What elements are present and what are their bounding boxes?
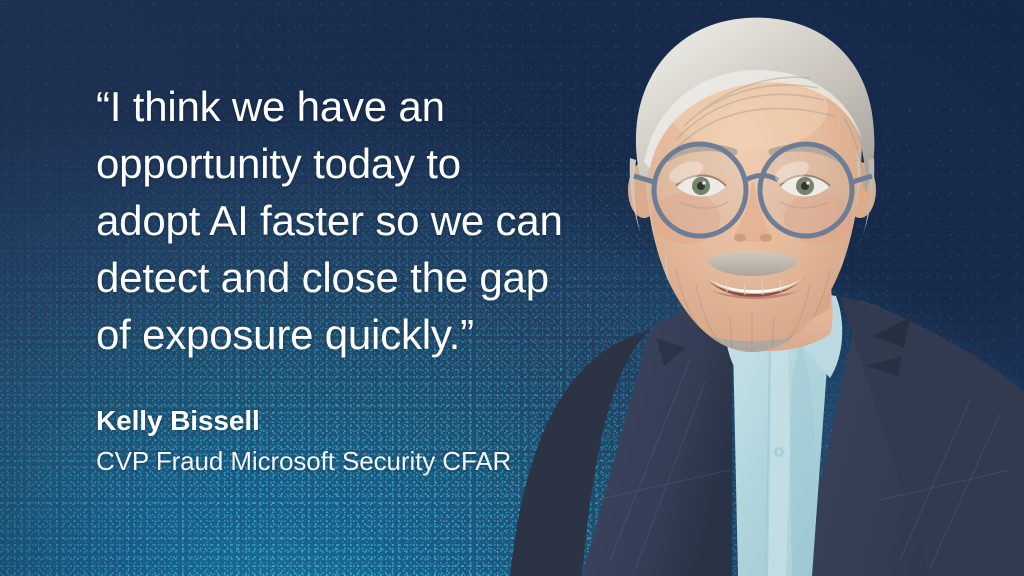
portrait-photo	[500, 0, 1024, 576]
lens-left	[654, 144, 746, 236]
speaker-role: CVP Fraud Microsoft Security CFAR	[96, 445, 511, 477]
speaker-name: Kelly Bissell	[96, 404, 511, 438]
quote-block: “I think we have an opportunity today to…	[96, 78, 566, 363]
quote-text: “I think we have an opportunity today to…	[96, 78, 566, 363]
quote-card: “I think we have an opportunity today to…	[0, 0, 1024, 576]
attribution-block: Kelly Bissell CVP Fraud Microsoft Securi…	[96, 404, 511, 477]
lens-right	[760, 144, 852, 236]
